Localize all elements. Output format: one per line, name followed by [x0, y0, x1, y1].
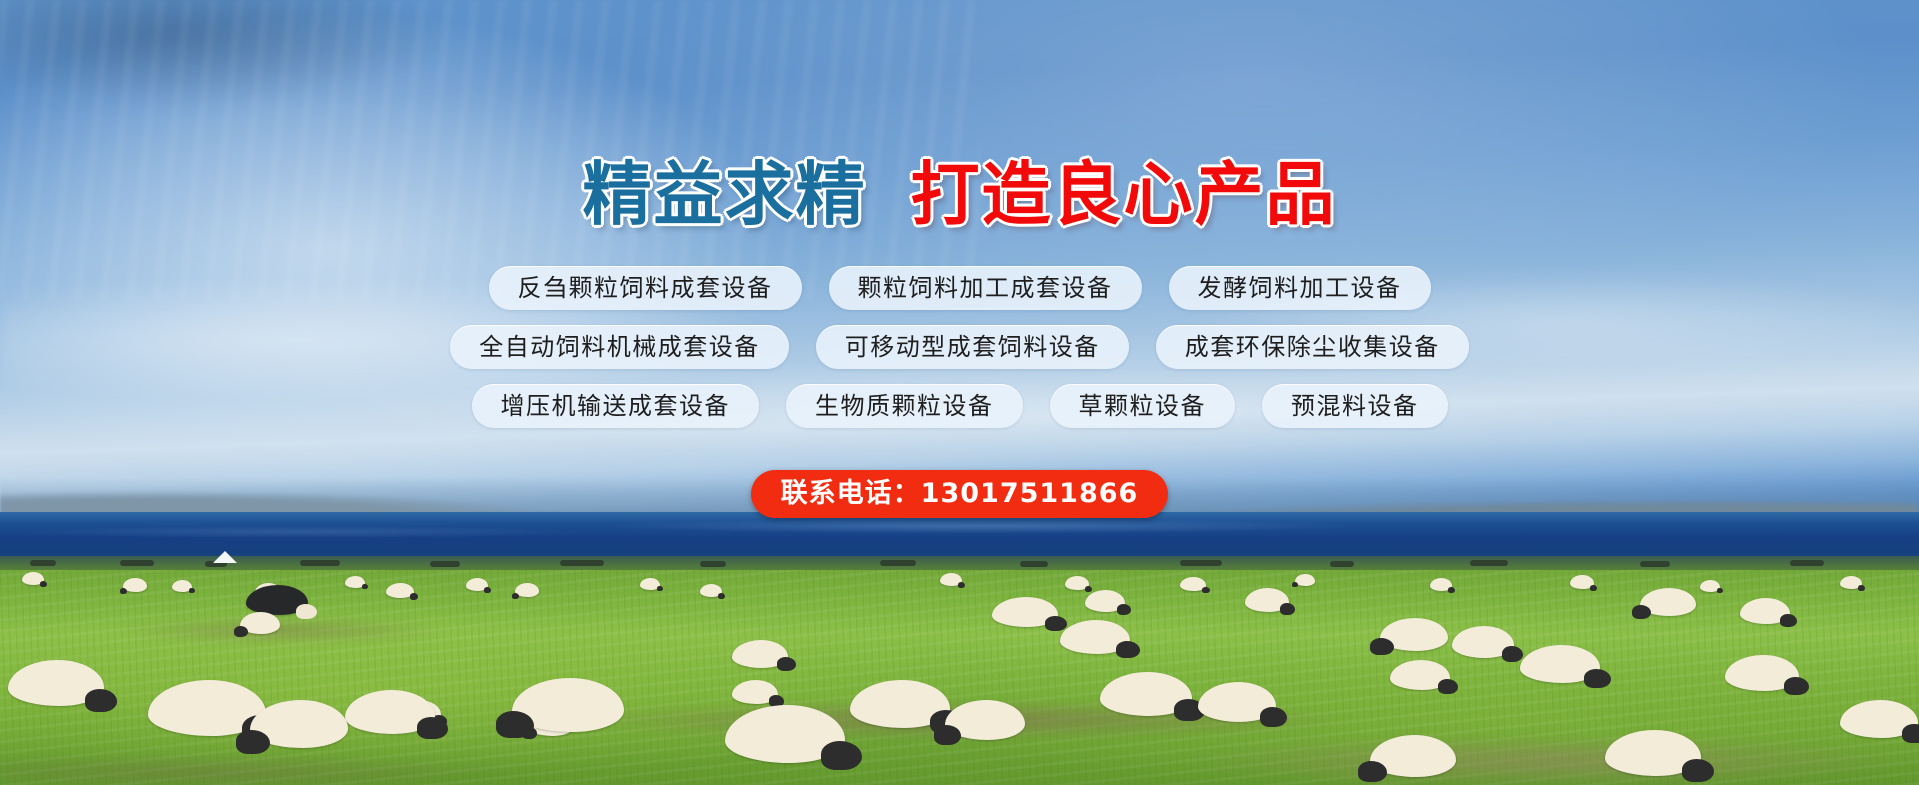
headline-part-blue: 精益求精 [583, 161, 867, 230]
product-category-pill[interactable]: 反刍颗粒饲料成套设备 [489, 266, 802, 310]
product-category-pill[interactable]: 发酵饲料加工设备 [1169, 266, 1431, 310]
product-category-pill[interactable]: 成套环保除尘收集设备 [1156, 325, 1469, 369]
product-category-pill[interactable]: 可移动型成套饲料设备 [816, 325, 1129, 369]
product-category-pill[interactable]: 增压机输送成套设备 [472, 384, 760, 428]
product-category-pill[interactable]: 颗粒饲料加工成套设备 [829, 266, 1142, 310]
product-category-list: 反刍颗粒饲料成套设备 颗粒饲料加工成套设备 发酵饲料加工设备 全自动饲料机械成套… [450, 266, 1469, 428]
product-category-pill[interactable]: 草颗粒设备 [1050, 384, 1236, 428]
headline-part-red: 打造良心产品 [911, 161, 1337, 230]
product-category-row: 反刍颗粒饲料成套设备 颗粒饲料加工成套设备 发酵饲料加工设备 [489, 266, 1431, 310]
product-category-pill[interactable]: 生物质颗粒设备 [786, 384, 1023, 428]
product-category-row: 增压机输送成套设备 生物质颗粒设备 草颗粒设备 预混料设备 [472, 384, 1448, 428]
promo-banner: 精益求精 打造良心产品 反刍颗粒饲料成套设备 颗粒饲料加工成套设备 发酵饲料加工… [0, 0, 1919, 785]
banner-content: 精益求精 打造良心产品 反刍颗粒饲料成套设备 颗粒饲料加工成套设备 发酵饲料加工… [0, 0, 1919, 785]
product-category-pill[interactable]: 预混料设备 [1262, 384, 1448, 428]
product-category-row: 全自动饲料机械成套设备 可移动型成套饲料设备 成套环保除尘收集设备 [450, 325, 1469, 369]
product-category-pill[interactable]: 全自动饲料机械成套设备 [450, 325, 789, 369]
headline: 精益求精 打造良心产品 [583, 161, 1337, 230]
contact-phone-badge[interactable]: 联系电话：13017511866 [751, 470, 1169, 518]
